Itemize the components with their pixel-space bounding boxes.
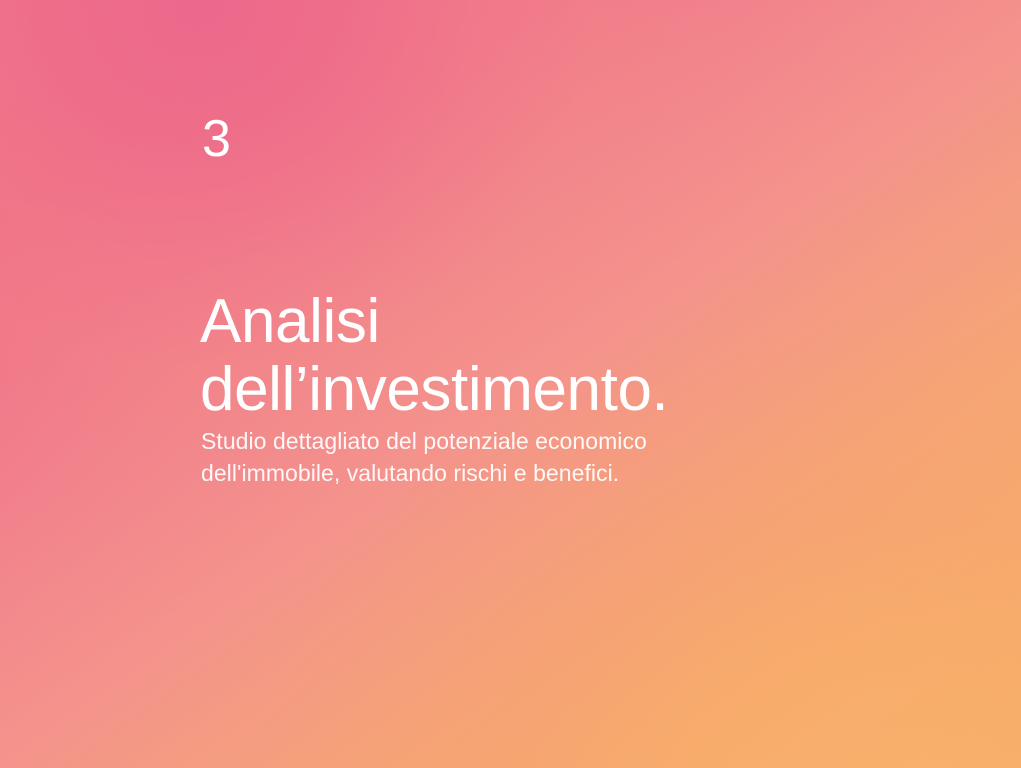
subtitle-line-2: dell'immobile, valutando rischi e benefi… <box>201 457 647 489</box>
title-line-1: Analisi <box>200 288 668 356</box>
page-subtitle: Studio dettagliato del potenziale econom… <box>201 425 647 489</box>
subtitle-line-1: Studio dettagliato del potenziale econom… <box>201 425 647 457</box>
title-line-2: dell’investimento. <box>200 356 668 424</box>
page-title: Analisi dell’investimento. <box>200 288 668 424</box>
slide-content: 3 Analisi dell’investimento. Studio dett… <box>200 0 960 768</box>
slide-container: 3 Analisi dell’investimento. Studio dett… <box>0 0 1021 768</box>
section-number: 3 <box>202 108 231 170</box>
